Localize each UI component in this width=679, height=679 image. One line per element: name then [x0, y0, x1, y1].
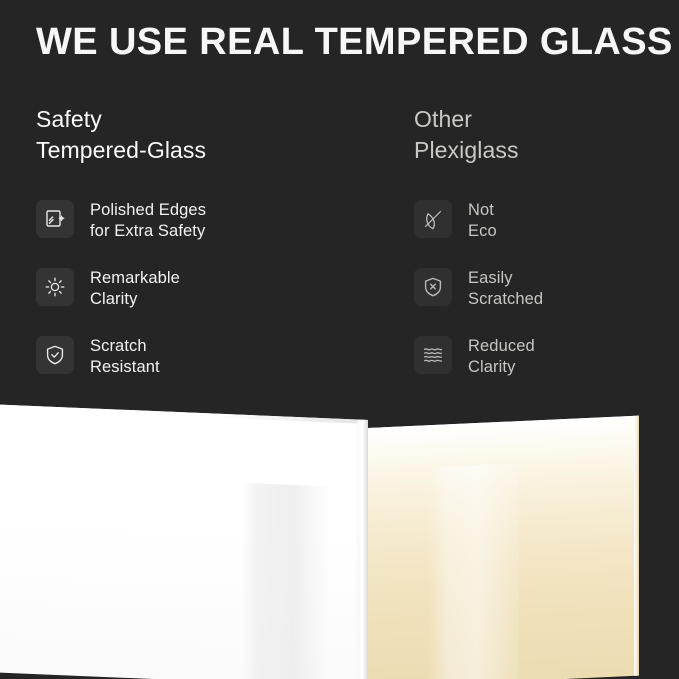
plexiglass-panel [367, 416, 639, 679]
feature-label-line1: Reduced [468, 337, 535, 355]
column-title-line1: Other [414, 106, 472, 132]
plexiglass-panel-right-edge [634, 416, 639, 676]
feature-label-line2: Scratched [468, 289, 543, 310]
feature-label-line2: Clarity [468, 357, 535, 378]
feature-label-line1: Remarkable [90, 269, 180, 287]
column-title-tempered-glass: Safety Tempered-Glass [36, 104, 376, 166]
plexiglass-panel-reflection [427, 463, 519, 679]
tempered-glass-panel-top-edge [0, 404, 368, 424]
infographic-root: WE USE REAL TEMPERED GLASS Safety Temper… [0, 0, 679, 679]
feature-list-plexiglass: Not Eco Easily Scratched [414, 198, 674, 402]
product-photo [0, 398, 679, 679]
feature-label-line1: Scratch [90, 337, 147, 355]
feature-label-line2: Clarity [90, 289, 180, 310]
feature-row: Reduced Clarity [414, 334, 674, 402]
feature-row: Scratch Resistant [36, 334, 376, 402]
feature-list-tempered-glass: Polished Edges for Extra Safety Remarkab… [36, 198, 376, 402]
column-title-line2: Plexiglass [414, 135, 674, 166]
feature-row: Remarkable Clarity [36, 266, 376, 334]
feature-row: Polished Edges for Extra Safety [36, 198, 376, 266]
feature-row: Easily Scratched [414, 266, 674, 334]
feature-label: Reduced Clarity [468, 334, 535, 378]
feature-label-line1: Polished Edges [90, 201, 206, 219]
column-title-plexiglass: Other Plexiglass [414, 104, 674, 166]
feature-label-line2: Resistant [90, 357, 160, 378]
comparison-columns: Safety Tempered-Glass Polished Edges fo [0, 104, 679, 404]
feature-label: Polished Edges for Extra Safety [90, 198, 206, 242]
leaf-crossed-out-icon [414, 200, 452, 238]
tempered-glass-panel [0, 404, 368, 679]
feature-row: Not Eco [414, 198, 674, 266]
feature-label-line2: Eco [468, 221, 497, 242]
wavy-lines-icon [414, 336, 452, 374]
polished-edge-sparkle-icon [36, 200, 74, 238]
tempered-glass-panel-reflection [242, 483, 328, 679]
feature-label: Not Eco [468, 198, 497, 242]
plexiglass-panel-top-edge [367, 416, 639, 431]
column-plexiglass: Other Plexiglass Not Eco [414, 104, 674, 166]
feature-label: Scratch Resistant [90, 334, 160, 378]
feature-label: Remarkable Clarity [90, 266, 180, 310]
sun-brightness-icon [36, 268, 74, 306]
column-title-line2: Tempered-Glass [36, 135, 376, 166]
shield-x-icon [414, 268, 452, 306]
feature-label: Easily Scratched [468, 266, 543, 310]
feature-label-line1: Easily [468, 269, 513, 287]
tempered-glass-panel-polished-edge [355, 419, 368, 679]
column-tempered-glass: Safety Tempered-Glass Polished Edges fo [36, 104, 376, 166]
column-title-line1: Safety [36, 106, 102, 132]
page-title: WE USE REAL TEMPERED GLASS [36, 20, 656, 64]
feature-label-line2: for Extra Safety [90, 221, 206, 242]
shield-check-icon [36, 336, 74, 374]
feature-label-line1: Not [468, 201, 494, 219]
